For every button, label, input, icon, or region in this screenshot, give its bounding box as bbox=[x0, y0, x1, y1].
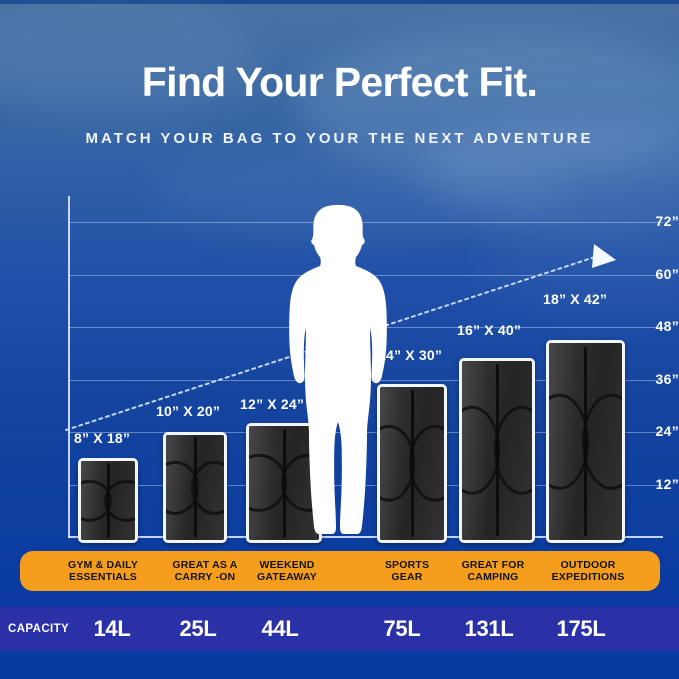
use-case-label: GYM & DAILY ESSENTIALS bbox=[44, 551, 162, 591]
bag-size-label: 18” X 42” bbox=[543, 291, 607, 307]
bag-bar[interactable] bbox=[459, 358, 535, 543]
y-axis-tick-label: 24” bbox=[625, 423, 679, 439]
y-axis-tick-label: 12” bbox=[625, 476, 679, 492]
bag-bar[interactable] bbox=[546, 340, 625, 543]
bag-bar[interactable] bbox=[78, 458, 138, 543]
human-silhouette-icon bbox=[281, 204, 395, 538]
bag-size-label: 16” X 40” bbox=[457, 322, 521, 338]
capacity-value: 175L bbox=[524, 607, 638, 651]
bag-bar[interactable] bbox=[163, 432, 227, 543]
y-axis-tick-label: 48” bbox=[625, 318, 679, 334]
bag-zipper-icon bbox=[584, 347, 587, 536]
bag-zipper-icon bbox=[107, 463, 110, 539]
bag-zipper-icon bbox=[411, 390, 414, 537]
use-case-label: WEEKEND GATEAWAY bbox=[232, 551, 342, 591]
use-case-label: OUTDOOR EXPEDITIONS bbox=[530, 551, 646, 591]
capacity-value: 44L bbox=[228, 607, 332, 651]
capacity-band-label: CAPACITY bbox=[8, 607, 69, 651]
bag-size-label: 8” X 18” bbox=[74, 430, 130, 446]
infographic-root: Find Your Perfect Fit. MATCH YOUR BAG TO… bbox=[0, 0, 679, 679]
bag-zipper-icon bbox=[496, 364, 499, 536]
bag-zipper-icon bbox=[194, 437, 197, 538]
y-axis-tick-label: 72” bbox=[625, 213, 679, 229]
bag-size-label: 10” X 20” bbox=[156, 403, 220, 419]
y-axis-tick-label: 60” bbox=[625, 266, 679, 282]
y-axis-tick-label: 36” bbox=[625, 371, 679, 387]
capacity-value: 14L bbox=[62, 607, 162, 651]
